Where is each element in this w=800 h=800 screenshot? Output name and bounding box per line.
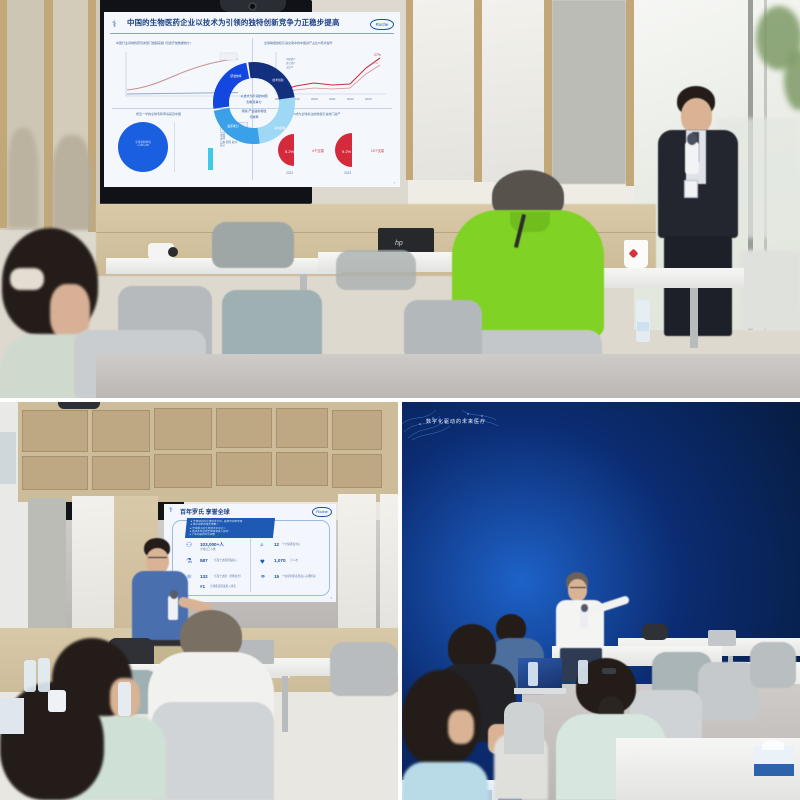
bl-felt-panel: [28, 498, 66, 630]
tissue-box-band: [754, 764, 794, 776]
br-att4-top: [402, 762, 488, 800]
bl-frosted-2: [338, 494, 376, 628]
chair-back-2: [336, 250, 416, 290]
stat-note-0: 全球员工人数: [200, 548, 216, 551]
bl-bottle-3: [118, 682, 131, 716]
br-attendee-foreground: [402, 670, 488, 800]
table-leg-2: [690, 288, 698, 348]
svg-text:2023: 2023: [365, 97, 372, 101]
q3-pie: 全球专利申请1,430,128: [118, 122, 168, 172]
bl-webcam-icon: [58, 402, 100, 409]
svg-text:与效率: 与效率: [249, 114, 258, 119]
stat-note-2: 亿瑞士法郎研发投入: [214, 559, 237, 562]
br-slide-bg: [402, 470, 498, 528]
bl-window-slice: [0, 432, 16, 484]
bl-sanitizer: [48, 690, 66, 712]
roche-mark-icon: ⚕: [112, 18, 123, 30]
svg-text:2021: 2021: [329, 97, 336, 101]
chair-back-1: [212, 222, 294, 268]
attendee-collar: [510, 212, 550, 232]
br-chair-foreground: [504, 702, 544, 754]
svg-text:13个交易: 13个交易: [371, 148, 384, 153]
slide-bottom-right: 数字化驱动的未来医疗: [402, 470, 498, 528]
slide-title-top: 中国的生物医药企业以技术为引领的独特创新竞争力正稳步提高: [127, 17, 340, 28]
bl-microphone-head: [170, 590, 178, 599]
bl-laptop-edge: [0, 698, 24, 734]
heart-icon: ♥: [260, 558, 269, 566]
br-microphone-head: [581, 604, 588, 612]
bl-frosted-3: [380, 494, 398, 628]
svg-text:资本政策: 资本政策: [274, 126, 285, 130]
bl-bullet-banner: ● 全球领先的生物技术公司，医药与诊断双强● 体外诊断领域全球第一● 全球最大的…: [185, 518, 275, 538]
slide-top: ⚕ 中国的生物医药企业以技术为引领的独特创新竞争力正稳步提高 Roche 中国行…: [104, 12, 400, 187]
floor-top: [96, 354, 800, 398]
photo-collage: ⚕ 中国的生物医药企业以技术为引领的独特创新竞争力正稳步提高 Roche 中国行…: [0, 0, 800, 800]
table-right: [584, 268, 744, 288]
molecule-icon: ⚭: [260, 574, 269, 582]
collage-panel-top: ⚕ 中国的生物医药企业以技术为引领的独特创新竞争力正稳步提高 Roche 中国行…: [0, 0, 800, 398]
br-chair-2: [698, 662, 758, 720]
bl-roche-mark-icon: ⚕: [169, 507, 177, 515]
stat-note-1: 个全球研发中心: [282, 543, 300, 546]
svg-text:9.2%: 9.2%: [342, 149, 352, 154]
collage-panel-bottom-right: 数字化驱动的未来医疗: [402, 402, 800, 800]
tissue-icon: [762, 740, 784, 750]
frosted-panel-2: [482, 0, 544, 182]
stat-value-5: 15: [274, 574, 279, 579]
q2-heading: 全球跨国授权引进交易中的中国资产占比%稳步提升: [264, 41, 333, 45]
br-presenter-arm: [584, 595, 630, 617]
hair-clip-icon: [10, 268, 44, 290]
q1-heading: 中国行业领域的研究类型门槛越来越 (包含开放数据统计): [116, 41, 191, 45]
microphone-head: [687, 133, 697, 145]
svg-text:研发效率: 研发效率: [230, 74, 241, 78]
presenter-head: [681, 98, 712, 134]
silhouette-shadow-1: [8, 128, 38, 228]
q3-heading: 增近一半的全球专利申请来自中国: [136, 112, 181, 116]
svg-text:技术创新: 技术创新: [272, 78, 283, 82]
bl-roche-logo: Roche: [312, 507, 332, 517]
svg-text:以技术为引领的中国: 以技术为引领的中国: [240, 93, 267, 98]
stat-note-4: 亿瑞士法郎（诊断业务）: [214, 575, 243, 578]
water-bottle-top: [636, 300, 650, 342]
bl-stat-divider: [250, 538, 251, 592]
br-chair-3: [750, 642, 796, 688]
chair-left-2: [222, 290, 322, 362]
br-glasses-icon: [570, 587, 586, 591]
camera-lens-icon: [168, 247, 178, 257]
br-bottle-1: [528, 662, 538, 686]
bl-bottle-1: [24, 660, 36, 692]
title-rule: [110, 33, 394, 34]
center-donut: 以技术为引领的中国 创新竞争力 持续 产业链的韧性 与效率 研发效率 技术创新 …: [208, 57, 300, 149]
stat-note-6: 全球医药研发投入排名: [210, 585, 236, 588]
bl-chair-front: [152, 702, 274, 800]
water-bottle-label: [637, 322, 649, 331]
br-phone: [602, 668, 616, 674]
microphone-icon: [685, 142, 699, 174]
acoustic-felt-panel: [552, 0, 626, 184]
webcam-icon: [220, 0, 286, 12]
bl-page-number: 3: [330, 596, 332, 600]
svg-text:临床能力: 临床能力: [227, 124, 238, 128]
svg-text:2023: 2023: [344, 171, 351, 175]
stat-value-1: 12: [274, 542, 279, 547]
frosted-panel-1: [412, 0, 474, 180]
panel-frame-d: [406, 0, 413, 180]
stat-note-3: 万人次: [290, 559, 298, 562]
stat-value-3: 1,070: [274, 558, 286, 563]
panel-frame-b: [544, 0, 552, 184]
svg-text:27%: 27%: [374, 53, 381, 57]
q3-bar: [208, 148, 213, 170]
stat-note-5: 个在研创新项目进入关键阶段: [282, 575, 316, 578]
svg-text:2022: 2022: [286, 171, 293, 175]
svg-text:5.2%: 5.2%: [285, 149, 295, 154]
chair-mid: [404, 300, 482, 360]
roche-logo: Roche: [370, 19, 394, 30]
bl-chair-right: [330, 642, 398, 696]
bl-frosted-1: [72, 496, 114, 630]
br-att4-face: [448, 710, 474, 744]
br-backpack: [642, 624, 668, 640]
br-laptop-back: [708, 630, 736, 646]
svg-text:4个交易: 4个交易: [312, 148, 325, 153]
svg-text:持续 产业链的韧性: 持续 产业链的韧性: [242, 108, 267, 113]
glasses-icon: [148, 557, 167, 562]
svg-text:2022: 2022: [347, 97, 354, 101]
bl-slide-title: 百年罗氏 享誉全球: [180, 507, 230, 516]
globe-icon: ⌕: [260, 542, 269, 550]
silhouette-shadow-2: [52, 135, 92, 230]
br-bottle-2: [578, 660, 588, 684]
badge-lanyard: [684, 180, 698, 198]
bl-table-leg: [282, 676, 288, 732]
svg-text:创新竞争力: 创新竞争力: [246, 99, 261, 104]
collage-divider-vertical: [398, 400, 402, 800]
panel-frame-a: [474, 0, 482, 182]
svg-text:2020: 2020: [311, 97, 318, 101]
hp-logo-icon: hp: [395, 240, 407, 248]
door-jamb-outer: [0, 0, 7, 228]
bl-bottle-2: [38, 658, 50, 692]
svg-text:16%: 16%: [372, 61, 378, 65]
slide-page-number: 7: [393, 181, 395, 185]
collage-panel-bottom-left: ⚕ 百年罗氏 享誉全球 Roche ● 全球领先的生物技术公司，医药与诊断双强●…: [0, 402, 398, 800]
panel-frame-c: [626, 0, 634, 186]
